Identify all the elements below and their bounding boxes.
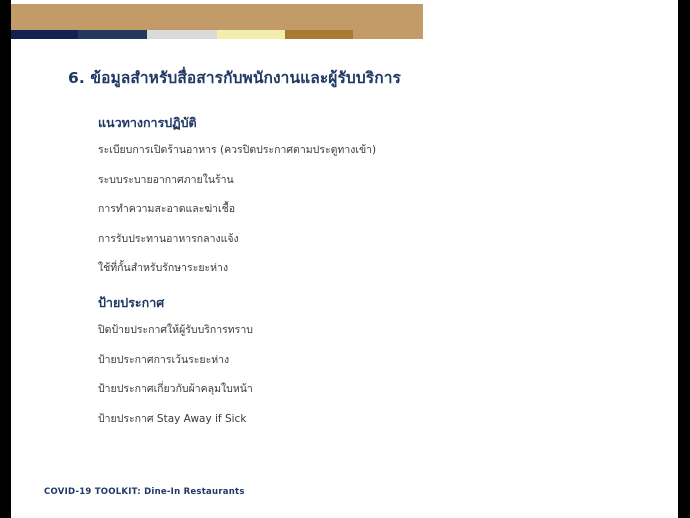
color-band-light-gray (147, 30, 217, 39)
list-item: ใช้ที่กั้นสำหรับรักษาระยะห่าง (98, 262, 618, 275)
color-band-dark-gold (285, 30, 353, 39)
list-item: ระบบระบายอากาศภายในร้าน (98, 174, 618, 187)
list-item: การทำความสะอาดและฆ่าเชื้อ (98, 203, 618, 216)
list-item: การรับประทานอาหารกลางแจ้ง (98, 233, 618, 246)
list-item: ป้ายประกาศเกี่ยวกับผ้าคลุมใบหน้า (98, 383, 618, 396)
color-band-row (11, 30, 423, 39)
color-band-navy (11, 30, 78, 39)
color-band-steel-blue (78, 30, 147, 39)
page-title: 6. ข้อมูลสำหรับสื่อสารกับพนักงานและผู้รั… (68, 69, 588, 88)
list-item: ป้ายประกาศการเว้นระยะห่าง (98, 354, 618, 367)
slide: 6. ข้อมูลสำหรับสื่อสารกับพนักงานและผู้รั… (0, 0, 690, 518)
color-band-pale-yellow (217, 30, 285, 39)
color-band-tan (353, 30, 423, 39)
list-item: ปิดป้ายประกาศให้ผู้รับบริการทราบ (98, 324, 618, 337)
body-block: แนวทางการปฏิบัติ ระเบียบการเปิดร้านอาหาร… (98, 115, 618, 425)
section-heading-signage: ป้ายประกาศ (98, 295, 618, 310)
section-heading-guidelines: แนวทางการปฏิบัติ (98, 115, 618, 130)
slide-content: 6. ข้อมูลสำหรับสื่อสารกับพนักงานและผู้รั… (0, 39, 690, 518)
list-item: ระเบียบการเปิดร้านอาหาร (ควรปิดประกาศตาม… (98, 144, 618, 157)
slide-footer: COVID-19 TOOLKIT: Dine-In Restaurants (44, 487, 245, 497)
top-banner (11, 4, 423, 30)
list-item: ป้ายประกาศ Stay Away if Sick (98, 413, 618, 426)
